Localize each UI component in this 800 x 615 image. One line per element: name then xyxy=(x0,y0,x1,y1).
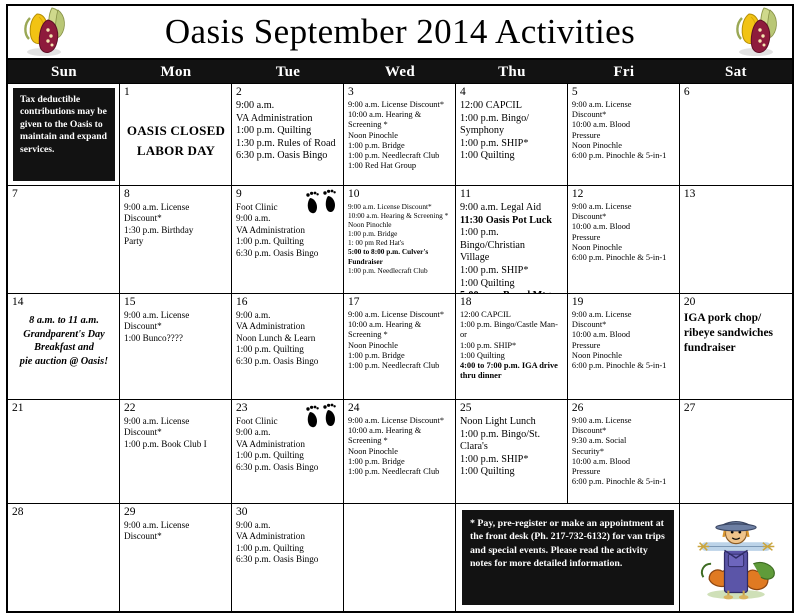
event-list: 9:00 a.m. Legal Aid11:30 Oasis Pot Luck1… xyxy=(460,202,564,293)
day-cell-empty[interactable] xyxy=(680,504,792,611)
event-item[interactable]: Discount* xyxy=(124,427,228,438)
event-item[interactable]: Party xyxy=(124,236,228,247)
grandparents-day-line: Breakfast and xyxy=(12,341,116,355)
event-item[interactable]: Noon Pinochle xyxy=(348,447,452,457)
event-item[interactable]: 9:00 a.m. License Discount* xyxy=(348,416,452,426)
event-item[interactable]: 6:00 p.m. Pinochle & 5-in-1 xyxy=(572,253,676,263)
event-item[interactable]: Village xyxy=(460,252,564,265)
day-number: 17 xyxy=(348,296,452,309)
weekday-tue: Tue xyxy=(232,60,344,83)
weekday-sat: Sat xyxy=(680,60,792,83)
day-number: 26 xyxy=(572,402,676,415)
event-item[interactable]: Noon Pinochle xyxy=(572,351,676,361)
day-number: 3 xyxy=(348,86,452,99)
oasis-closed-label: OASIS CLOSEDLABOR DAY xyxy=(124,121,228,161)
indian-corn-icon-right xyxy=(730,4,782,60)
event-item[interactable]: 11:30 Oasis Pot Luck xyxy=(460,215,564,228)
day-cell-5[interactable]: 59:00 a.m. License Discount*10:00 a.m. B… xyxy=(568,84,680,185)
event-item[interactable]: Screening * xyxy=(348,330,452,340)
event-item[interactable]: 1:00 p.m. Needlecraft Club xyxy=(348,361,452,371)
event-list: 9:00 a.m. License Discount*10:00 a.m. Bl… xyxy=(572,310,676,371)
tax-deductible-note: Tax deductible contributions may be give… xyxy=(13,88,115,181)
grandparents-day-line: pie auction @ Oasis! xyxy=(12,355,116,369)
event-item[interactable]: 1:00 p.m. Bridge xyxy=(348,457,452,467)
event-item[interactable]: 1:00 p.m. Bingo/Castle Man- xyxy=(460,320,564,330)
event-item[interactable]: 9:00 a.m. License xyxy=(124,416,228,427)
event-list: 9:00 a.m. License Discount*10:00 a.m. Bl… xyxy=(572,100,676,161)
event-item[interactable]: VA Administration xyxy=(236,439,340,450)
event-item[interactable]: 10:00 a.m. Hearing & Screening * xyxy=(348,211,452,220)
event-item[interactable]: VA Administration xyxy=(236,113,340,126)
calendar-grid: Tax deductible contributions may be give… xyxy=(6,84,794,613)
event-item[interactable]: 1:00 p.m. Needlecraft Club xyxy=(348,266,452,275)
day-number: 15 xyxy=(124,296,228,309)
day-cell-22[interactable]: 229:00 a.m. License Discount*1:00 p.m. B… xyxy=(120,400,232,503)
day-cell-11[interactable]: 119:00 a.m. Legal Aid11:30 Oasis Pot Luc… xyxy=(456,186,568,293)
event-item[interactable]: Discount* xyxy=(124,213,228,224)
event-item[interactable]: Discount* xyxy=(572,426,676,436)
event-item[interactable]: 1:00 p.m. Quilting xyxy=(236,236,340,247)
event-item[interactable]: 6:00 p.m. Pinochle & 5-in-1 xyxy=(572,151,676,161)
event-item[interactable]: 1:00 p.m. SHIP* xyxy=(460,138,564,151)
event-item[interactable]: Pressure xyxy=(572,467,676,477)
day-cell-8[interactable]: 89:00 a.m. License Discount*1:30 p.m. Bi… xyxy=(120,186,232,293)
event-item[interactable]: VA Administration xyxy=(236,225,340,236)
day-number: 1 xyxy=(124,86,228,99)
event-item[interactable]: 9:00 a.m. xyxy=(236,520,340,531)
event-item[interactable]: Noon Light Lunch xyxy=(460,416,564,429)
event-item[interactable]: 10:00 a.m. Blood xyxy=(572,330,676,340)
day-number: 19 xyxy=(572,296,676,309)
event-item[interactable]: 1:30 p.m. Rules of Road xyxy=(236,138,340,151)
day-number: 18 xyxy=(460,296,564,309)
event-list: 9:00 a.m.VA Administration1:00 p.m. Quil… xyxy=(236,100,340,163)
day-number: 8 xyxy=(124,188,228,201)
day-number: 30 xyxy=(236,506,340,519)
weekday-fri: Fri xyxy=(568,60,680,83)
grandparents-day-line: 8 a.m. to 11 a.m. xyxy=(12,314,116,328)
grandparents-day-note: 8 a.m. to 11 a.m.Grandparent's DayBreakf… xyxy=(12,314,116,368)
fundraiser-line: ribeye sandwiches xyxy=(684,326,789,341)
day-number: 4 xyxy=(460,86,564,99)
event-item[interactable]: 12:00 CAPCIL xyxy=(460,310,564,320)
day-number: 22 xyxy=(124,402,228,415)
event-item[interactable]: Pressure xyxy=(572,131,676,141)
event-item[interactable]: 6:30 p.m. Oasis Bingo xyxy=(236,554,340,565)
day-cell-2[interactable]: 29:00 a.m.VA Administration1:00 p.m. Qui… xyxy=(232,84,344,185)
day-cell-14[interactable]: 148 a.m. to 11 a.m.Grandparent's DayBrea… xyxy=(8,294,120,399)
event-item[interactable]: 1:00 Quilting xyxy=(460,351,564,361)
event-item[interactable]: 6:30 p.m. Oasis Bingo xyxy=(236,248,340,259)
day-cell-1[interactable]: 1OASIS CLOSEDLABOR DAY xyxy=(120,84,232,185)
event-item[interactable]: 6:30 p.m. Oasis Bingo xyxy=(236,462,340,473)
event-item[interactable]: 1:00 p.m. SHIP* xyxy=(460,341,564,351)
event-item[interactable]: 9:00 a.m. License Discount* xyxy=(348,310,452,320)
event-item[interactable]: 1: 00 pm Red Hat's xyxy=(348,238,452,247)
event-item[interactable]: 10:00 a.m. Blood xyxy=(572,222,676,232)
event-item[interactable]: or xyxy=(460,330,564,340)
day-number: 2 xyxy=(236,86,340,99)
day-cell-empty[interactable]: * Pay, pre-register or make an appointme… xyxy=(456,504,680,611)
event-item[interactable]: Noon Pinochle xyxy=(572,243,676,253)
event-item[interactable]: 10:00 a.m. Hearing & xyxy=(348,320,452,330)
event-item[interactable]: Discount* xyxy=(572,212,676,222)
day-cell-19[interactable]: 199:00 a.m. License Discount*10:00 a.m. … xyxy=(568,294,680,399)
event-item[interactable]: 9:00 a.m. xyxy=(236,100,340,113)
day-cell-6[interactable]: 6 xyxy=(680,84,792,185)
event-item[interactable]: 1:00 p.m. Bingo/St. xyxy=(460,429,564,442)
event-list: 9:00 a.m. License Discount* xyxy=(124,520,228,543)
weekday-mon: Mon xyxy=(120,60,232,83)
event-item[interactable]: 1:00 p.m. Quilting xyxy=(236,344,340,355)
event-item[interactable]: Discount* xyxy=(572,320,676,330)
event-list: 12:00 CAPCIL1:00 p.m. Bingo/Castle Man-o… xyxy=(460,310,564,381)
calendar-page: Oasis September 2014 Activities Sun Mon … xyxy=(0,0,800,615)
day-number: 11 xyxy=(460,188,564,201)
event-item[interactable]: 1:00 Red Hat Group xyxy=(348,161,452,171)
day-number: 21 xyxy=(12,402,116,415)
event-item[interactable]: 6:30 p.m. Oasis Bingo xyxy=(236,150,340,163)
day-cell-3[interactable]: 39:00 a.m. License Discount*10:00 a.m. H… xyxy=(344,84,456,185)
day-cell-12[interactable]: 129:00 a.m. LicenseDiscount*10:00 a.m. B… xyxy=(568,186,680,293)
event-item[interactable]: 9:00 a.m. License xyxy=(572,416,676,426)
title-banner: Oasis September 2014 Activities xyxy=(6,4,794,58)
day-number: 13 xyxy=(684,188,789,201)
event-item[interactable]: 1:00 p.m. Quilting xyxy=(236,543,340,554)
event-item[interactable]: 1:00 Quilting xyxy=(460,466,564,479)
event-item[interactable]: Security* xyxy=(572,447,676,457)
event-list: 9:00 a.m. License Discount*10:00 a.m. He… xyxy=(348,310,452,371)
calendar-week-row: 21229:00 a.m. License Discount*1:00 p.m.… xyxy=(8,400,792,504)
event-item[interactable]: Noon Lunch & Learn xyxy=(236,333,340,344)
event-item[interactable]: 9:00 a.m. License xyxy=(124,520,228,531)
day-cell-empty[interactable] xyxy=(344,504,456,611)
day-cell-26[interactable]: 269:00 a.m. LicenseDiscount*9:30 a.m. So… xyxy=(568,400,680,503)
calendar-week-row: 148 a.m. to 11 a.m.Grandparent's DayBrea… xyxy=(8,294,792,400)
weekday-wed: Wed xyxy=(344,60,456,83)
event-item[interactable]: 6:00 p.m. Pinochle & 5-in-1 xyxy=(572,477,676,487)
day-cell-21[interactable]: 21 xyxy=(8,400,120,503)
event-item[interactable]: Screening * xyxy=(348,120,452,130)
event-item[interactable]: Pressure xyxy=(572,233,676,243)
fundraiser-line: IGA pork chop/ xyxy=(684,311,789,326)
event-item[interactable]: 4:00 to 7:00 p.m. IGA drive xyxy=(460,361,564,371)
event-item[interactable]: 1:00 p.m. Book Club I xyxy=(124,439,228,450)
day-number: 25 xyxy=(460,402,564,415)
event-item[interactable]: 12:00 CAPCIL xyxy=(460,100,564,113)
event-item[interactable]: 9:00 a.m. xyxy=(236,310,340,321)
event-list: 9:00 a.m. LicenseDiscount*1:00 Bunco???? xyxy=(124,310,228,344)
event-item[interactable]: 1:00 p.m. Bridge xyxy=(348,141,452,151)
event-list: 9:00 a.m. License Discount*1:00 p.m. Boo… xyxy=(124,416,228,450)
event-item[interactable]: 1:00 p.m. Needlecraft Club xyxy=(348,467,452,477)
event-list: 9:00 a.m.VA Administration1:00 p.m. Quil… xyxy=(236,520,340,566)
event-item[interactable]: 6:30 p.m. Oasis Bingo xyxy=(236,356,340,367)
event-list: 9:00 a.m. License Discount*10:00 a.m. He… xyxy=(348,416,452,477)
day-cell-27[interactable]: 27 xyxy=(680,400,792,503)
day-cell-15[interactable]: 159:00 a.m. LicenseDiscount*1:00 Bunco??… xyxy=(120,294,232,399)
event-item[interactable]: Discount* xyxy=(124,321,228,332)
calendar-week-row: 28299:00 a.m. License Discount*309:00 a.… xyxy=(8,504,792,611)
day-cell-4[interactable]: 412:00 CAPCIL1:00 p.m. Bingo/Symphony1:0… xyxy=(456,84,568,185)
event-item[interactable]: 9:00 a.m. License xyxy=(572,202,676,212)
event-list: 9:00 a.m. License Discount*1:30 p.m. Bir… xyxy=(124,202,228,248)
day-cell-13[interactable]: 13 xyxy=(680,186,792,293)
event-list: 12:00 CAPCIL1:00 p.m. Bingo/Symphony1:00… xyxy=(460,100,564,163)
fundraiser-line: fundraiser xyxy=(684,341,789,356)
day-number: 14 xyxy=(12,296,24,309)
event-item[interactable]: 9:00 a.m. xyxy=(236,213,340,224)
event-item[interactable]: Screening * xyxy=(348,436,452,446)
event-item[interactable]: 9:00 a.m. License Discount* xyxy=(348,202,452,211)
day-number: 28 xyxy=(12,506,116,519)
event-item[interactable]: 1:00 p.m. Bingo/Christian xyxy=(460,227,564,252)
day-cell-24[interactable]: 249:00 a.m. License Discount*10:00 a.m. … xyxy=(344,400,456,503)
day-number: 10 xyxy=(348,188,452,201)
event-item[interactable]: Discount* xyxy=(124,531,228,542)
weekday-header: Sun Mon Tue Wed Thu Fri Sat xyxy=(6,58,794,84)
event-item[interactable]: 6:00 p.m. Pinochle & 5-in-1 xyxy=(572,361,676,371)
event-item[interactable]: 9:30 a.m. Social xyxy=(572,436,676,446)
day-number: 7 xyxy=(12,188,116,201)
day-number: 12 xyxy=(572,188,676,201)
event-item[interactable]: Clara's xyxy=(460,441,564,454)
event-list: 9:00 a.m. License Discount*10:00 a.m. He… xyxy=(348,100,452,171)
event-list: 9:00 a.m. LicenseDiscount*10:00 a.m. Blo… xyxy=(572,202,676,263)
event-item[interactable]: 1:00 Bunco???? xyxy=(124,333,228,344)
day-cell-10[interactable]: 109:00 a.m. License Discount*10:00 a.m. … xyxy=(344,186,456,293)
day-cell-23[interactable]: 23Foot Clinic9:00 a.m.VA Administration1… xyxy=(232,400,344,503)
day-cell-20[interactable]: 20IGA pork chop/ribeye sandwichesfundrai… xyxy=(680,294,792,399)
event-item[interactable]: thru dinner xyxy=(460,371,564,381)
day-cell-16[interactable]: 169:00 a.m.VA AdministrationNoon Lunch &… xyxy=(232,294,344,399)
event-item[interactable]: 10:00 a.m. Hearing & xyxy=(348,426,452,436)
event-list: Noon Light Lunch1:00 p.m. Bingo/St.Clara… xyxy=(460,416,564,479)
event-item[interactable]: Discount* xyxy=(572,110,676,120)
grandparents-day-line: Grandparent's Day xyxy=(12,328,116,342)
event-item[interactable]: 9:00 a.m. License xyxy=(572,310,676,320)
event-item[interactable]: Noon Pinochle xyxy=(348,220,452,229)
event-list: 9:00 a.m. License Discount*10:00 a.m. He… xyxy=(348,202,452,275)
day-number: 16 xyxy=(236,296,340,309)
event-item[interactable]: 1:00 p.m. Quilting xyxy=(236,450,340,461)
event-item[interactable]: 9:00 a.m. xyxy=(236,427,340,438)
weekday-sun: Sun xyxy=(8,60,120,83)
event-item[interactable]: 9:00 a.m. License Discount* xyxy=(348,100,452,110)
footer-disclaimer-note: * Pay, pre-register or make an appointme… xyxy=(462,510,674,605)
day-number: 20 xyxy=(684,296,789,309)
event-item[interactable]: 1:00 Quilting xyxy=(460,278,564,291)
event-list: 9:00 a.m. LicenseDiscount*9:30 a.m. Soci… xyxy=(572,416,676,487)
event-item[interactable]: 1:00 p.m. Bridge xyxy=(348,351,452,361)
day-cell-30[interactable]: 309:00 a.m.VA Administration1:00 p.m. Qu… xyxy=(232,504,344,611)
event-item[interactable]: 9:00 a.m. License xyxy=(572,100,676,110)
event-item[interactable]: Noon Pinochle xyxy=(572,141,676,151)
day-cell-7[interactable]: 7 xyxy=(8,186,120,293)
event-item[interactable]: 9:00 a.m. License xyxy=(124,202,228,213)
footprints-icon xyxy=(304,403,338,429)
event-item[interactable]: VA Administration xyxy=(236,531,340,542)
event-item[interactable]: 10:00 a.m. Hearing & xyxy=(348,110,452,120)
event-list: 9:00 a.m.VA AdministrationNoon Lunch & L… xyxy=(236,310,340,367)
event-item[interactable]: Symphony xyxy=(460,125,564,138)
day-cell-9[interactable]: 9Foot Clinic9:00 a.m.VA Administration1:… xyxy=(232,186,344,293)
event-item[interactable]: Fundraiser xyxy=(348,257,452,266)
calendar-week-row: Tax deductible contributions may be give… xyxy=(8,84,792,186)
event-item[interactable]: 10:00 a.m. Blood xyxy=(572,120,676,130)
event-item[interactable]: 5:00 to 8:00 p.m. Culver's xyxy=(348,247,452,256)
event-item[interactable]: Noon Pinochle xyxy=(348,131,452,141)
event-item[interactable]: 1:30 p.m. Birthday xyxy=(124,225,228,236)
indian-corn-icon-left xyxy=(18,4,70,60)
event-item[interactable]: 1:00 p.m. Bridge xyxy=(348,229,452,238)
event-item[interactable]: VA Administration xyxy=(236,321,340,332)
event-item[interactable]: 1:00 p.m. Quilting xyxy=(236,125,340,138)
event-item[interactable]: 1:00 p.m. SHIP* xyxy=(460,265,564,278)
iga-fundraiser-note: IGA pork chop/ribeye sandwichesfundraise… xyxy=(684,311,789,356)
page-title: Oasis September 2014 Activities xyxy=(165,12,635,52)
event-item[interactable]: 1:00 Quilting xyxy=(460,150,564,163)
event-item[interactable]: Pressure xyxy=(572,341,676,351)
footprints-icon xyxy=(304,189,338,215)
event-item[interactable]: 9:00 a.m. License xyxy=(124,310,228,321)
event-item[interactable]: Noon Pinochle xyxy=(348,341,452,351)
event-item[interactable]: 1:00 p.m. Bingo/ xyxy=(460,113,564,126)
day-number xyxy=(348,506,452,519)
day-number: 29 xyxy=(124,506,228,519)
event-item[interactable]: 5:00 p.m. Board Mtg. xyxy=(460,290,564,293)
day-cell-empty[interactable]: Tax deductible contributions may be give… xyxy=(8,84,120,185)
day-cell-28[interactable]: 28 xyxy=(8,504,120,611)
day-number: 27 xyxy=(684,402,789,415)
scarecrow-pumpkins-icon xyxy=(684,506,789,609)
weekday-thu: Thu xyxy=(456,60,568,83)
day-cell-17[interactable]: 179:00 a.m. License Discount*10:00 a.m. … xyxy=(344,294,456,399)
day-cell-18[interactable]: 1812:00 CAPCIL1:00 p.m. Bingo/Castle Man… xyxy=(456,294,568,399)
event-item[interactable]: 1:00 p.m. Needlecraft Club xyxy=(348,151,452,161)
day-number: 5 xyxy=(572,86,676,99)
day-number: 6 xyxy=(684,86,789,99)
day-cell-29[interactable]: 299:00 a.m. License Discount* xyxy=(120,504,232,611)
event-item[interactable]: 10:00 a.m. Blood xyxy=(572,457,676,467)
day-cell-25[interactable]: 25Noon Light Lunch1:00 p.m. Bingo/St.Cla… xyxy=(456,400,568,503)
event-item[interactable]: 9:00 a.m. Legal Aid xyxy=(460,202,564,215)
calendar-week-row: 789:00 a.m. License Discount*1:30 p.m. B… xyxy=(8,186,792,294)
day-number: 24 xyxy=(348,402,452,415)
event-item[interactable]: 1:00 p.m. SHIP* xyxy=(460,454,564,467)
